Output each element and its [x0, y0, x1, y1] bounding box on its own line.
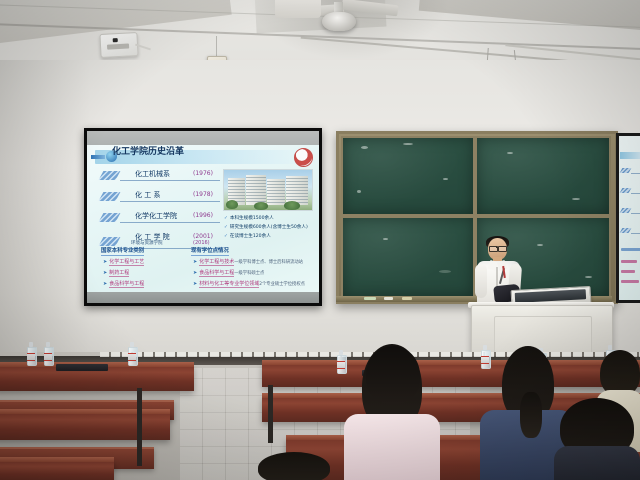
desk-row: [0, 412, 170, 440]
column-item-tail: 一级学科硕士点: [234, 271, 264, 276]
screen-bottom-margin: [87, 292, 319, 303]
column-item-label: 化学工程与工艺: [109, 259, 144, 266]
secondary-projection-screen: [616, 133, 640, 303]
column-heading-left: 国家本科专业类别: [101, 246, 144, 256]
speaker-vent: [107, 43, 129, 49]
column-item: ➤化学工程与工艺: [103, 258, 144, 265]
sensor-wire: [216, 36, 217, 58]
classroom-photo: 2025年05月14日 08:09:20 化工学院历史沿革 化工机械系 (197…: [0, 0, 640, 480]
timeline-name: 化学化工学院: [135, 211, 177, 221]
student-hair: [258, 452, 330, 480]
student: [344, 344, 440, 480]
column-item-label: 制药工程: [109, 270, 129, 277]
student-top: [344, 414, 440, 480]
blackboard-panel-top-left: [341, 136, 475, 216]
desk-leg: [268, 385, 273, 443]
building-photo: [223, 169, 313, 211]
check-icon: ✓: [224, 225, 228, 230]
secondary-title-bar: [620, 152, 640, 159]
desk-top: [0, 409, 170, 414]
timeline-year: (1976): [193, 170, 213, 177]
desk-leg: [137, 388, 142, 466]
stat-text: 研究生规模600余人(含博士生50余人): [230, 225, 308, 230]
stat-line: ✓本科生规模1500余人: [224, 215, 274, 221]
desk-row: [262, 363, 640, 387]
column-item-label: 材料与化工等专业学位领域: [199, 281, 259, 288]
timeline-year: (1978): [193, 191, 213, 198]
stat-text: 本科生规模1500余人: [230, 216, 274, 221]
column-item-label: 食品科学与工程: [109, 281, 144, 288]
timeline-underline: [120, 222, 220, 223]
desk-row: [0, 460, 114, 480]
blackboard-panel-top-right: [475, 136, 611, 216]
arrow-icon: ➤: [193, 281, 197, 287]
arrow-icon: ➤: [103, 270, 107, 276]
student-top: [554, 446, 640, 480]
ceiling-fan-icon: [322, 12, 356, 31]
water-bottle: [44, 342, 52, 364]
chevron-icon: [99, 192, 121, 201]
arrow-icon: ➤: [193, 270, 197, 276]
chevron-icon: [99, 171, 121, 180]
arrow-icon: ➤: [103, 259, 107, 265]
fan-mount: [275, 0, 321, 18]
column-item-label: 化学工程与技术: [199, 259, 234, 266]
stat-line: ✓在读博士生120余人: [224, 233, 271, 239]
column-item-tail: 2个专业硕士学位授权点: [259, 282, 305, 287]
timeline-year: (2001): [193, 233, 213, 240]
student: [554, 398, 640, 480]
column-item-tail: 一级学科博士点、博士后科研流动站: [234, 260, 303, 265]
desk-top: [0, 457, 114, 462]
chevron-icon: [99, 237, 121, 246]
timeline-underline: [120, 201, 220, 202]
timeline-name: 化工机械系: [135, 169, 170, 179]
column-item: ➤材料与化工等专业学位领域2个专业硕士学位授权点: [193, 280, 305, 287]
column-item: ➤食品科学与工程: [103, 280, 144, 287]
arrow-icon: ➤: [193, 259, 197, 265]
ponytail: [520, 392, 542, 438]
check-icon: ✓: [224, 216, 228, 221]
timeline-year: (1996): [193, 212, 213, 219]
water-bottle: [27, 342, 35, 364]
column-item: ➤食品科学与工程一级学科硕士点: [193, 269, 264, 276]
glasses-bridge-icon: [496, 247, 498, 248]
screen-top-margin: [87, 131, 319, 145]
timeline-name: 化 工 系: [135, 190, 160, 200]
chevron-icon: [99, 213, 121, 222]
column-item: ➤制药工程: [103, 269, 129, 276]
monitor-screen: [515, 289, 586, 303]
ceiling-speaker-icon: [99, 32, 138, 58]
slide-title: 化工学院历史沿革: [112, 146, 184, 158]
blackboard-panel-bottom-left: [341, 216, 475, 298]
projection-screen: 化工学院历史沿革 化工机械系 (1976) 化 工 系 (1978) 化学化工学…: [84, 128, 322, 306]
column-item-label: 食品科学与工程: [199, 270, 234, 277]
desk-top: [262, 360, 640, 365]
water-bottle: [128, 342, 136, 364]
presentation-slide: 化工学院历史沿革 化工机械系 (1976) 化 工 系 (1978) 化学化工学…: [87, 145, 319, 292]
ceiling-beam-right: [419, 0, 640, 33]
secondary-slide: [619, 136, 640, 300]
stat-text: 在读博士生120余人: [230, 234, 271, 239]
check-icon: ✓: [224, 234, 228, 239]
notebook: [56, 364, 108, 371]
column-heading-right: 现有学位点情况: [191, 246, 229, 256]
speaker-led-icon: [113, 38, 118, 42]
column-item: ➤化学工程与技术一级学科博士点、博士后科研流动站: [193, 258, 303, 265]
title-accent-bar: [91, 155, 105, 159]
presenter-arm-left: [475, 264, 487, 298]
university-logo-icon: [294, 148, 313, 167]
stat-line: ✓研究生规模600余人(含博士生50余人): [224, 224, 308, 230]
arrow-icon: ➤: [103, 281, 107, 287]
student: [258, 452, 330, 480]
wall-shadow: [0, 60, 90, 360]
timeline-underline: [120, 180, 220, 181]
student-hair-front: [366, 346, 420, 404]
glasses-right-lens-icon: [498, 246, 507, 252]
